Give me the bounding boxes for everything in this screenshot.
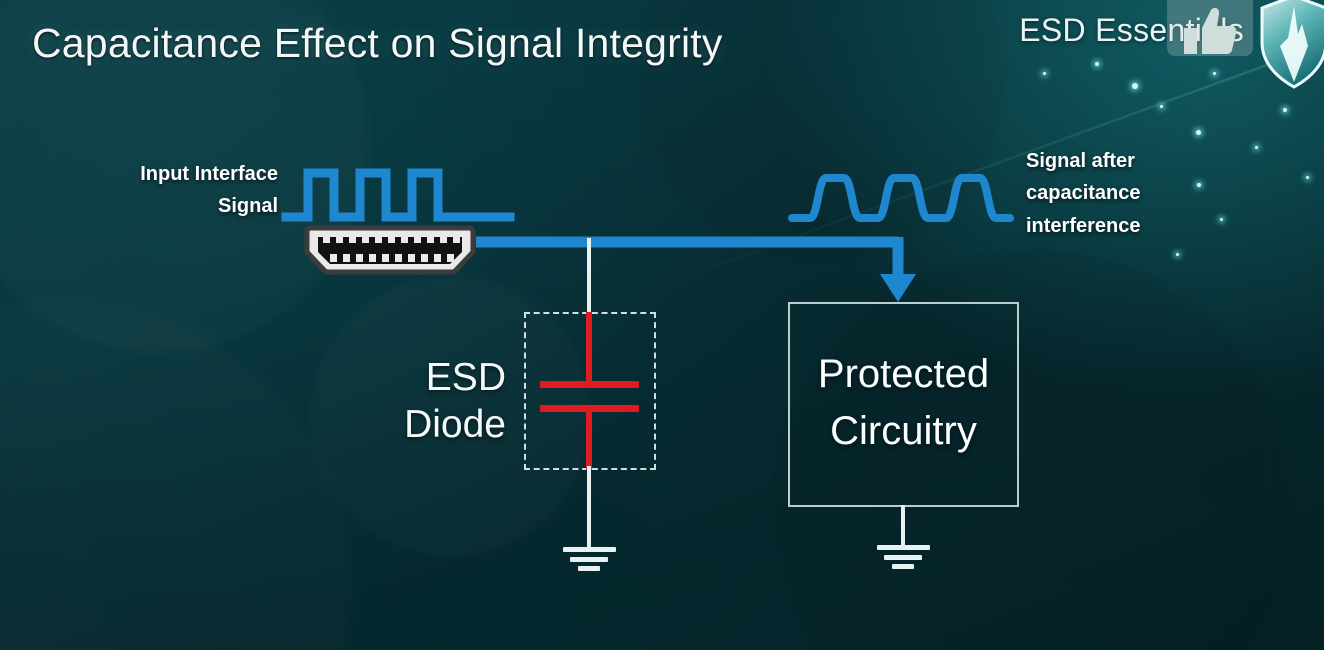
esd-diode-label: ESD Diode <box>378 355 506 449</box>
particle-dot <box>1160 105 1163 108</box>
hdmi-connector-icon <box>306 224 484 278</box>
after-interference-label: Signal after capacitance interference <box>1026 145 1216 242</box>
input-signal-label: Input Interface Signal <box>88 158 278 223</box>
protected-circuitry-label-line2: Circuitry <box>788 403 1019 460</box>
protected-circuitry-label-line1: Protected <box>788 346 1019 403</box>
protected-ground-wire <box>901 505 905 547</box>
esd-diode-label-line1: ESD <box>378 355 506 402</box>
particle-dot <box>1306 176 1309 179</box>
particle-dot <box>1095 62 1099 66</box>
ground-symbol-icon <box>877 545 930 550</box>
ground-symbol-bar-bottom <box>892 564 914 569</box>
esd-branch-wire-lower <box>587 466 591 548</box>
ground-symbol-bar-bottom <box>578 566 600 571</box>
background-texture <box>0 0 1324 650</box>
capacitor-lead-bottom <box>586 406 592 470</box>
page-title: Capacitance Effect on Signal Integrity <box>32 20 723 67</box>
shield-pulse-icon <box>1258 0 1324 90</box>
particle-dot <box>1213 72 1216 75</box>
particle-dot <box>1283 108 1287 112</box>
ground-symbol-icon <box>563 547 616 552</box>
particle-dot <box>1043 72 1046 75</box>
slide-canvas: Capacitance Effect on Signal Integrity E… <box>0 0 1324 650</box>
particle-dot <box>1132 83 1138 89</box>
input-signal-label-line1: Input Interface <box>88 158 278 190</box>
protected-circuitry-label: Protected Circuitry <box>788 346 1019 460</box>
after-interference-label-line2: capacitance <box>1026 177 1216 209</box>
esd-diode-label-line2: Diode <box>378 402 506 449</box>
particle-dot <box>1196 130 1201 135</box>
capacitor-plate-top <box>540 381 639 388</box>
ground-symbol-bar-middle <box>884 555 922 560</box>
particle-dot <box>1176 253 1179 256</box>
particle-dot <box>1220 218 1223 221</box>
signal-flow-arrow-icon <box>470 232 920 312</box>
after-interference-label-line1: Signal after <box>1026 145 1216 177</box>
ground-symbol-bar-middle <box>570 557 608 562</box>
input-signal-label-line2: Signal <box>88 190 278 222</box>
square-wave-icon <box>282 165 514 227</box>
rounded-square-wave-icon <box>788 168 1014 226</box>
after-interference-label-line3: interference <box>1026 210 1216 242</box>
capacitor-lead-top <box>586 312 592 386</box>
brand-label: ESD Essentials <box>1019 12 1244 49</box>
particle-dot <box>1255 146 1258 149</box>
